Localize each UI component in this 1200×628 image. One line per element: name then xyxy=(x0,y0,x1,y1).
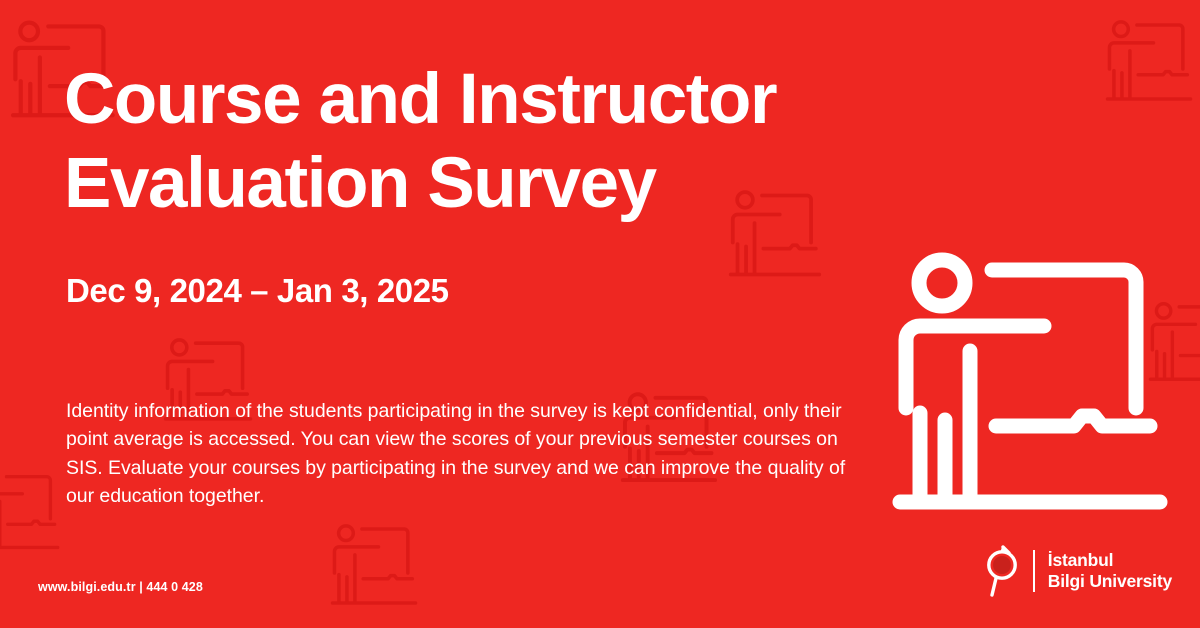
title-line-1: Course and Instructor xyxy=(64,58,944,142)
teacher-head-icon xyxy=(919,260,965,306)
board-content-line-icon xyxy=(996,416,1150,426)
footer-contact-info: www.bilgi.edu.tr | 444 0 428 xyxy=(38,580,203,594)
logo-line-2: Bilgi University xyxy=(1048,571,1172,592)
bilgi-pin-icon xyxy=(982,543,1024,599)
teacher-at-board-icon xyxy=(892,248,1174,520)
logo-line-1: İstanbul xyxy=(1048,550,1172,571)
date-range: Dec 9, 2024 – Jan 3, 2025 xyxy=(66,271,449,311)
page-title: Course and Instructor Evaluation Survey xyxy=(64,58,944,226)
bilgi-university-logo: İstanbul Bilgi University xyxy=(982,542,1172,600)
body-paragraph: Identity information of the students par… xyxy=(66,397,856,511)
board-frame-icon xyxy=(992,270,1136,408)
logo-wordmark: İstanbul Bilgi University xyxy=(1048,550,1172,592)
logo-divider xyxy=(1033,550,1035,592)
title-line-2: Evaluation Survey xyxy=(64,142,944,226)
poster-canvas: Course and Instructor Evaluation Survey … xyxy=(0,0,1200,628)
